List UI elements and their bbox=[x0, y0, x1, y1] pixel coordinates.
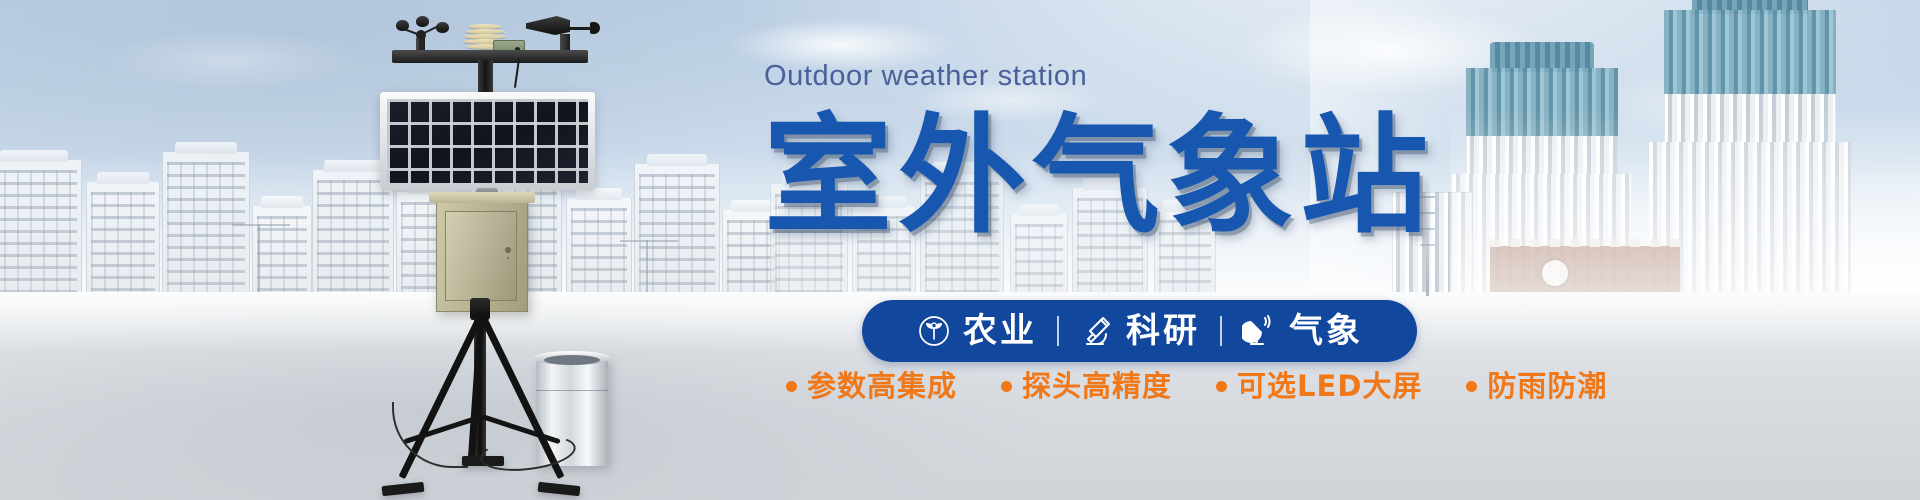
cabinet-lid bbox=[429, 192, 535, 203]
solar-cells bbox=[387, 99, 588, 183]
pill-item-meteorology[interactable]: 气象 bbox=[1222, 313, 1383, 349]
control-cabinet bbox=[436, 200, 528, 312]
feature-item: 防雨防潮 bbox=[1466, 372, 1607, 401]
pill-label: 科研 bbox=[1126, 314, 1200, 348]
feature-label: 可选LED大屏 bbox=[1237, 372, 1422, 401]
feature-item: 参数高集成 bbox=[786, 372, 957, 401]
pill-label: 气象 bbox=[1289, 314, 1363, 348]
mast-top-section bbox=[478, 60, 493, 96]
pill-item-research[interactable]: 科研 bbox=[1059, 313, 1220, 349]
anemometer-cup bbox=[436, 22, 449, 33]
sprout-circle-icon bbox=[916, 313, 952, 349]
feature-item: 探头高精度 bbox=[1001, 372, 1172, 401]
feature-label: 探头高精度 bbox=[1022, 372, 1172, 401]
promo-banner: Outdoor weather station 室外气象站 农业 bbox=[0, 0, 1920, 500]
tripod-foot-plate bbox=[538, 482, 581, 496]
satellite-dish-icon bbox=[1242, 313, 1278, 349]
pill-label: 农业 bbox=[963, 314, 1037, 348]
weather-station-product bbox=[330, 4, 630, 496]
bullet-dot-icon bbox=[1466, 381, 1477, 392]
bullet-dot-icon bbox=[1001, 381, 1012, 392]
solar-panel bbox=[380, 92, 595, 190]
anemometer-cup bbox=[416, 16, 429, 27]
vane-nose bbox=[590, 22, 600, 34]
apartment-tower bbox=[0, 160, 82, 310]
page-title: 室外气象站 bbox=[764, 113, 1584, 241]
apartment-tower bbox=[86, 182, 160, 310]
bullet-dot-icon bbox=[786, 381, 797, 392]
feature-label: 防雨防潮 bbox=[1487, 372, 1607, 401]
cabinet-door bbox=[445, 211, 517, 301]
bullet-dot-icon bbox=[1216, 381, 1227, 392]
microscope-icon bbox=[1079, 313, 1115, 349]
apartment-tower bbox=[162, 152, 250, 310]
tripod-foot-plate bbox=[382, 482, 425, 496]
feature-label: 参数高集成 bbox=[807, 372, 957, 401]
headline-block: Outdoor weather station 室外气象站 bbox=[764, 62, 1584, 241]
feature-item: 可选LED大屏 bbox=[1216, 372, 1422, 401]
eyebrow-text: Outdoor weather station bbox=[764, 62, 1584, 91]
vane-tail bbox=[526, 16, 570, 35]
pill-item-agriculture[interactable]: 农业 bbox=[896, 313, 1057, 349]
feature-bullet-list: 参数高集成 探头高精度 可选LED大屏 防雨防潮 bbox=[786, 372, 1607, 401]
anemometer-cup bbox=[396, 20, 409, 31]
cabinet-lock-icon bbox=[505, 247, 511, 253]
application-pill-badge: 农业 科研 bbox=[862, 300, 1417, 362]
